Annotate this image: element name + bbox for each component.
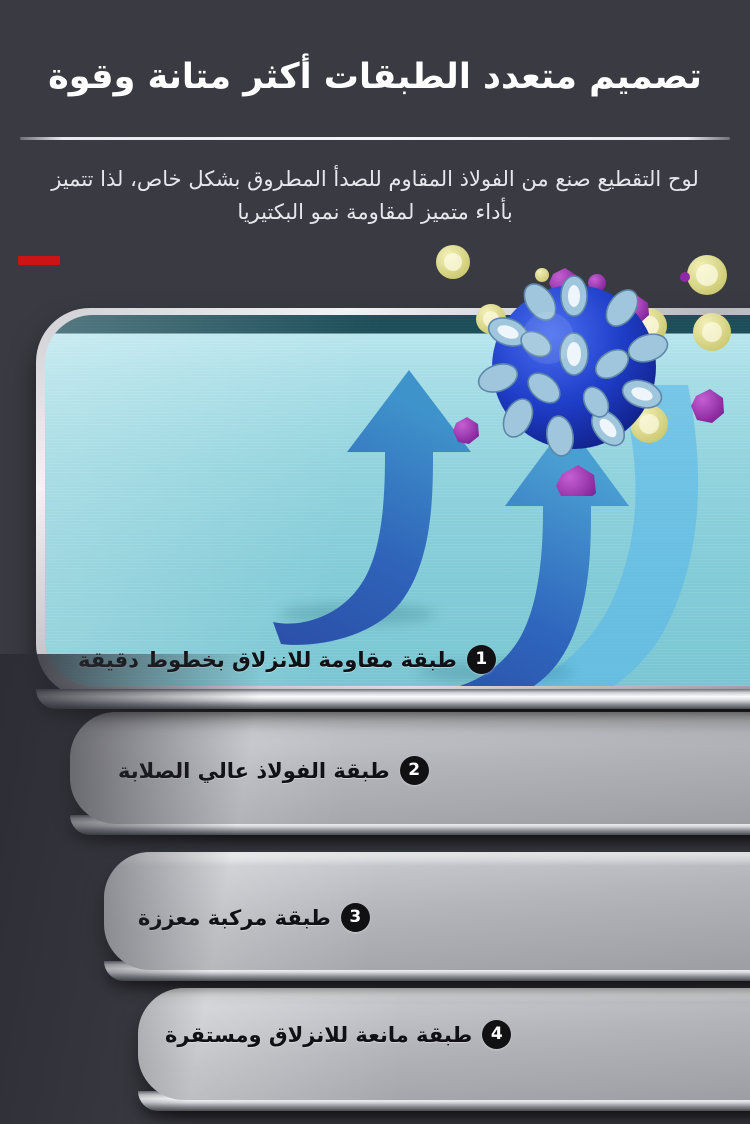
layer-2-label: 2 طبقة الفولاذ عالي الصلابة [118,756,429,785]
layer-2-badge: 2 [400,756,429,785]
product-feature-page: تصميم متعدد الطبقات أكثر متانة وقوة لوح … [0,0,750,1124]
layer-2-text: طبقة الفولاذ عالي الصلابة [118,759,390,783]
layer-3-text: طبقة مركبة معززة [138,906,331,930]
layer-stack [0,0,750,1124]
layer-3-badge: 3 [341,903,370,932]
layer-4-label: 4 طبقة مانعة للانزلاق ومستقرة [165,1020,511,1049]
layer-4-badge: 4 [482,1020,511,1049]
germ-cluster [36,236,750,496]
layer-1-label: 1 طبقة مقاومة للانزلاق بخطوط دقيقة [78,645,496,674]
layer-3-label: 3 طبقة مركبة معززة [138,903,370,932]
layer-1-badge: 1 [467,645,496,674]
layer-1-metal-rim [36,689,750,709]
layer-4-text: طبقة مانعة للانزلاق ومستقرة [165,1023,472,1047]
layer-1-text: طبقة مقاومة للانزلاق بخطوط دقيقة [78,648,457,672]
